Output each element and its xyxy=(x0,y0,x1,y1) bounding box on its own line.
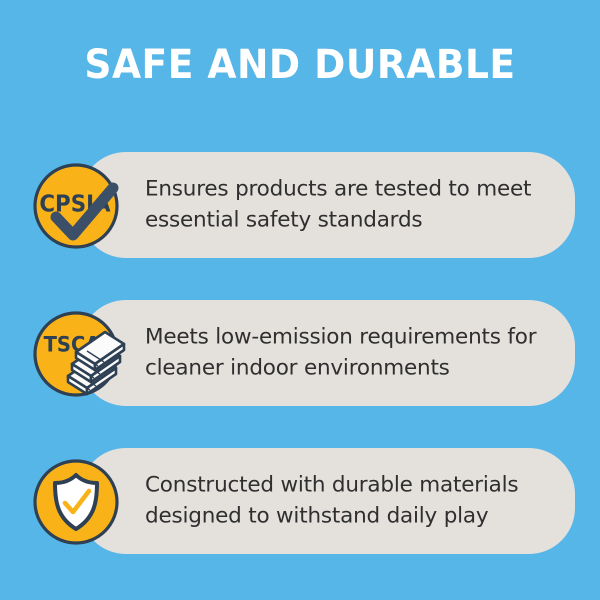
feature-pill: Meets low-emission requirements for clea… xyxy=(80,300,575,406)
safe-and-durable-poster: SAFE AND DURABLE Ensures products are te… xyxy=(0,0,600,600)
page-title: SAFE AND DURABLE xyxy=(18,45,582,85)
feature-description: Ensures products are tested to meet esse… xyxy=(145,174,565,235)
feature-pill: Ensures products are tested to meet esse… xyxy=(80,152,575,258)
badge-tsca: TSCA xyxy=(32,310,120,398)
feature-pill: Constructed with durable materials desig… xyxy=(80,448,575,554)
badge-cpsia: CPSIA xyxy=(32,162,120,250)
feature-description: Constructed with durable materials desig… xyxy=(145,470,565,531)
badge-shield xyxy=(32,458,120,546)
list-item: Ensures products are tested to meet esse… xyxy=(0,152,600,258)
list-item: Constructed with durable materials desig… xyxy=(0,448,600,554)
feature-description: Meets low-emission requirements for clea… xyxy=(145,322,565,383)
feature-list: Ensures products are tested to meet esse… xyxy=(0,152,600,596)
list-item: Meets low-emission requirements for clea… xyxy=(0,300,600,406)
